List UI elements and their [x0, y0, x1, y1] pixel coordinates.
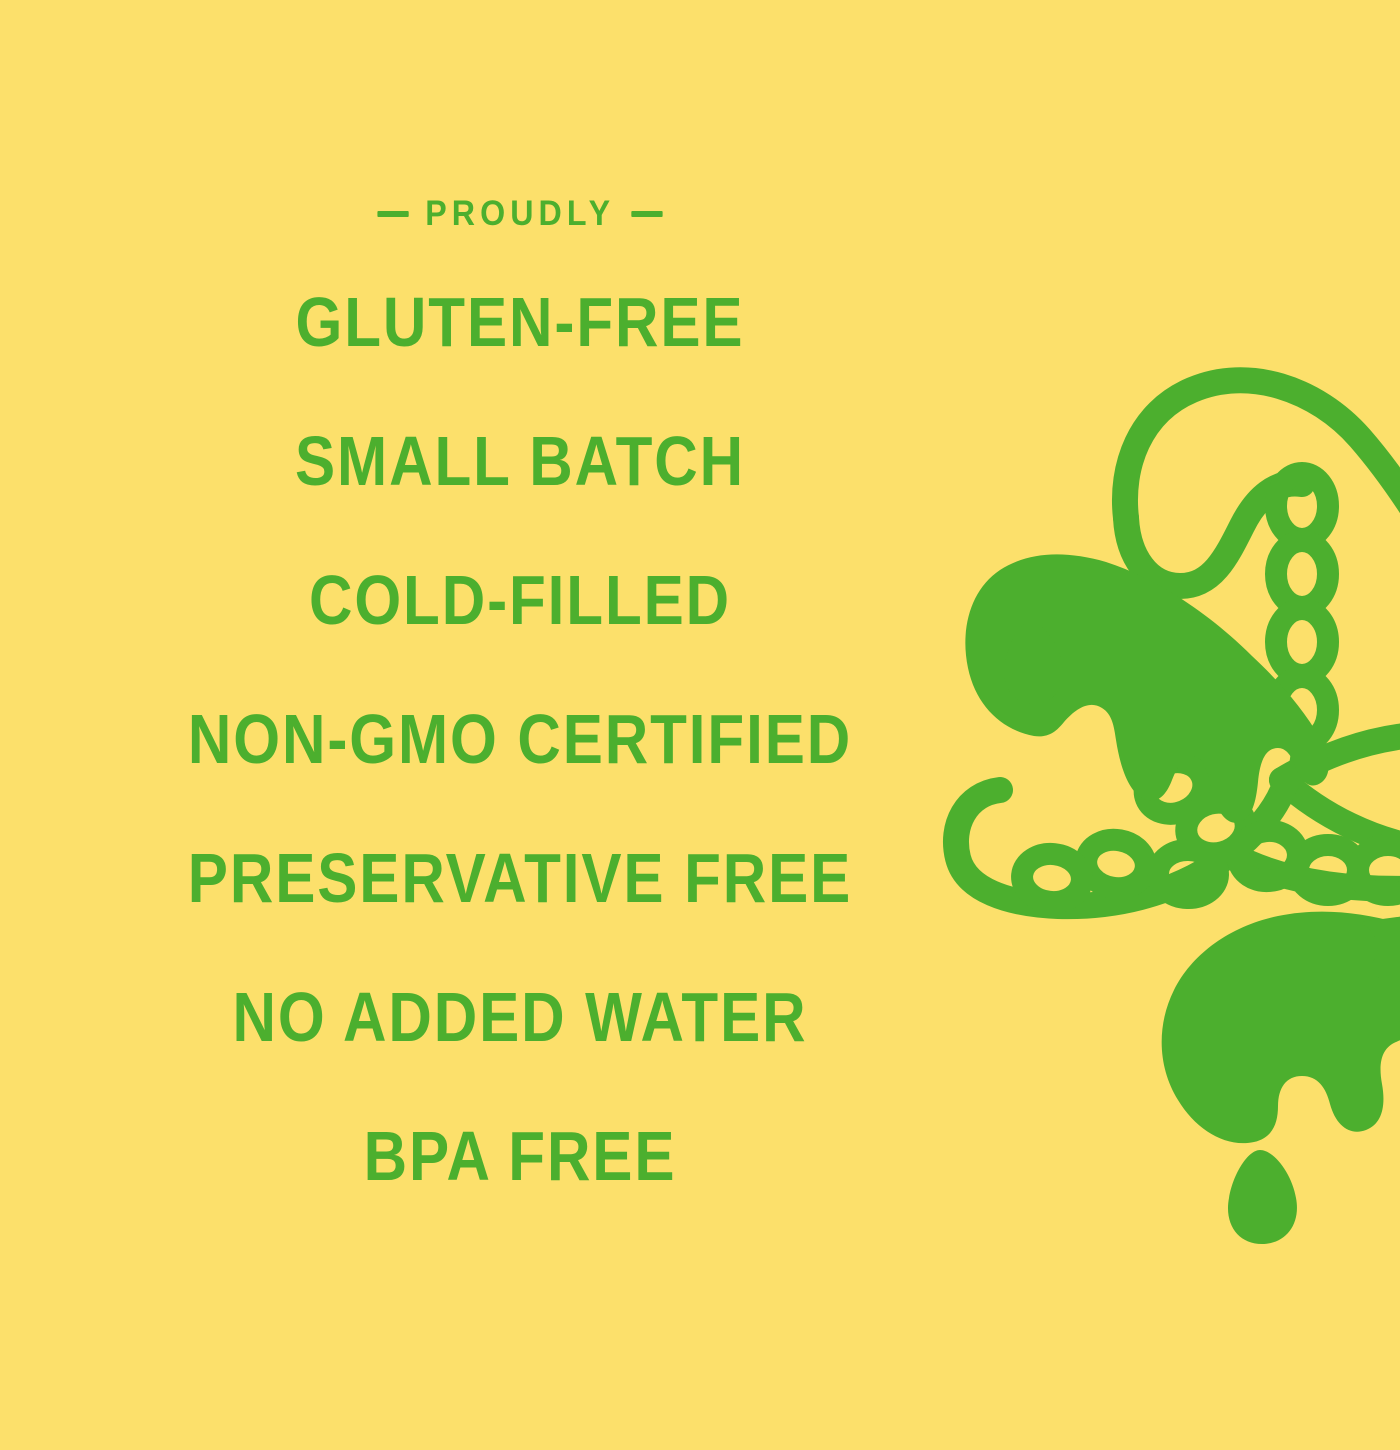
tentacle-sucker-arm-icon [956, 782, 1286, 906]
sucker-chain-horizontal [1020, 754, 1400, 984]
tentacle-right-arc-lower-icon [1282, 780, 1400, 850]
sucker-chain-tail-icon [1282, 742, 1302, 782]
tentacle-upper-curl-lower-icon [1126, 483, 1302, 586]
sucker-ring-icon [1236, 828, 1301, 884]
sucker-ring-icon [1020, 851, 1085, 905]
claim-item-cold-filled: COLD-FILLED [73, 565, 967, 635]
ink-droplet-upper-icon [1004, 622, 1063, 704]
claim-item-small-batch: SMALL BATCH [73, 426, 967, 496]
sucker-ring-icon [1358, 845, 1400, 895]
octopus-head-lower-notch-icon [1360, 914, 1400, 982]
sucker-chain-vertical [1276, 473, 1328, 782]
eyebrow-dash-left-icon [377, 211, 408, 217]
claim-item-no-added-water: NO ADDED WATER [73, 982, 967, 1052]
sucker-ring-icon [1332, 936, 1388, 984]
ink-droplet-lower-icon [1228, 1150, 1297, 1244]
proudly-claims-panel: PROUDLY GLUTEN-FREE SMALL BATCH COLD-FIL… [0, 0, 1400, 1450]
claim-item-gluten-free: GLUTEN-FREE [73, 287, 967, 357]
claims-block: PROUDLY GLUTEN-FREE SMALL BATCH COLD-FIL… [0, 0, 1040, 1450]
tentacle-lower-connector-icon [1360, 967, 1400, 974]
sucker-ring-icon [1082, 835, 1149, 893]
claim-list: GLUTEN-FREE SMALL BATCH COLD-FILLED NON-… [0, 287, 1040, 1191]
octopus-head-lower-icon [1162, 912, 1400, 1144]
sucker-ring-icon [1276, 541, 1328, 607]
claim-item-non-gmo-certified: NON-GMO CERTIFIED [73, 704, 967, 774]
octopus-illustration [930, 270, 1400, 1250]
eyebrow-heading: PROUDLY [377, 196, 663, 231]
eyebrow-label: PROUDLY [425, 196, 615, 231]
claim-item-preservative-free: PRESERVATIVE FREE [73, 843, 967, 913]
octopus-body-shapes [965, 554, 1400, 1244]
sucker-ring-icon [1157, 849, 1219, 899]
octopus-head-upper-icon [965, 554, 1328, 822]
tentacle-right-arc-icon [1282, 734, 1400, 780]
sucker-ring-icon [1298, 845, 1358, 895]
octopus-tentacle-strokes [956, 380, 1400, 974]
sucker-ring-icon [1276, 609, 1328, 675]
tentacle-upper-curl-icon [1125, 380, 1400, 570]
claim-item-bpa-free: BPA FREE [73, 1121, 967, 1191]
sucker-ring-icon [1181, 796, 1251, 859]
sucker-ring-icon [1276, 473, 1328, 539]
sucker-ring-icon [1137, 754, 1211, 823]
tentacle-sucker-arm-right-icon [1230, 854, 1400, 889]
eyebrow-dash-right-icon [632, 211, 663, 217]
sucker-ring-icon [1276, 677, 1328, 743]
